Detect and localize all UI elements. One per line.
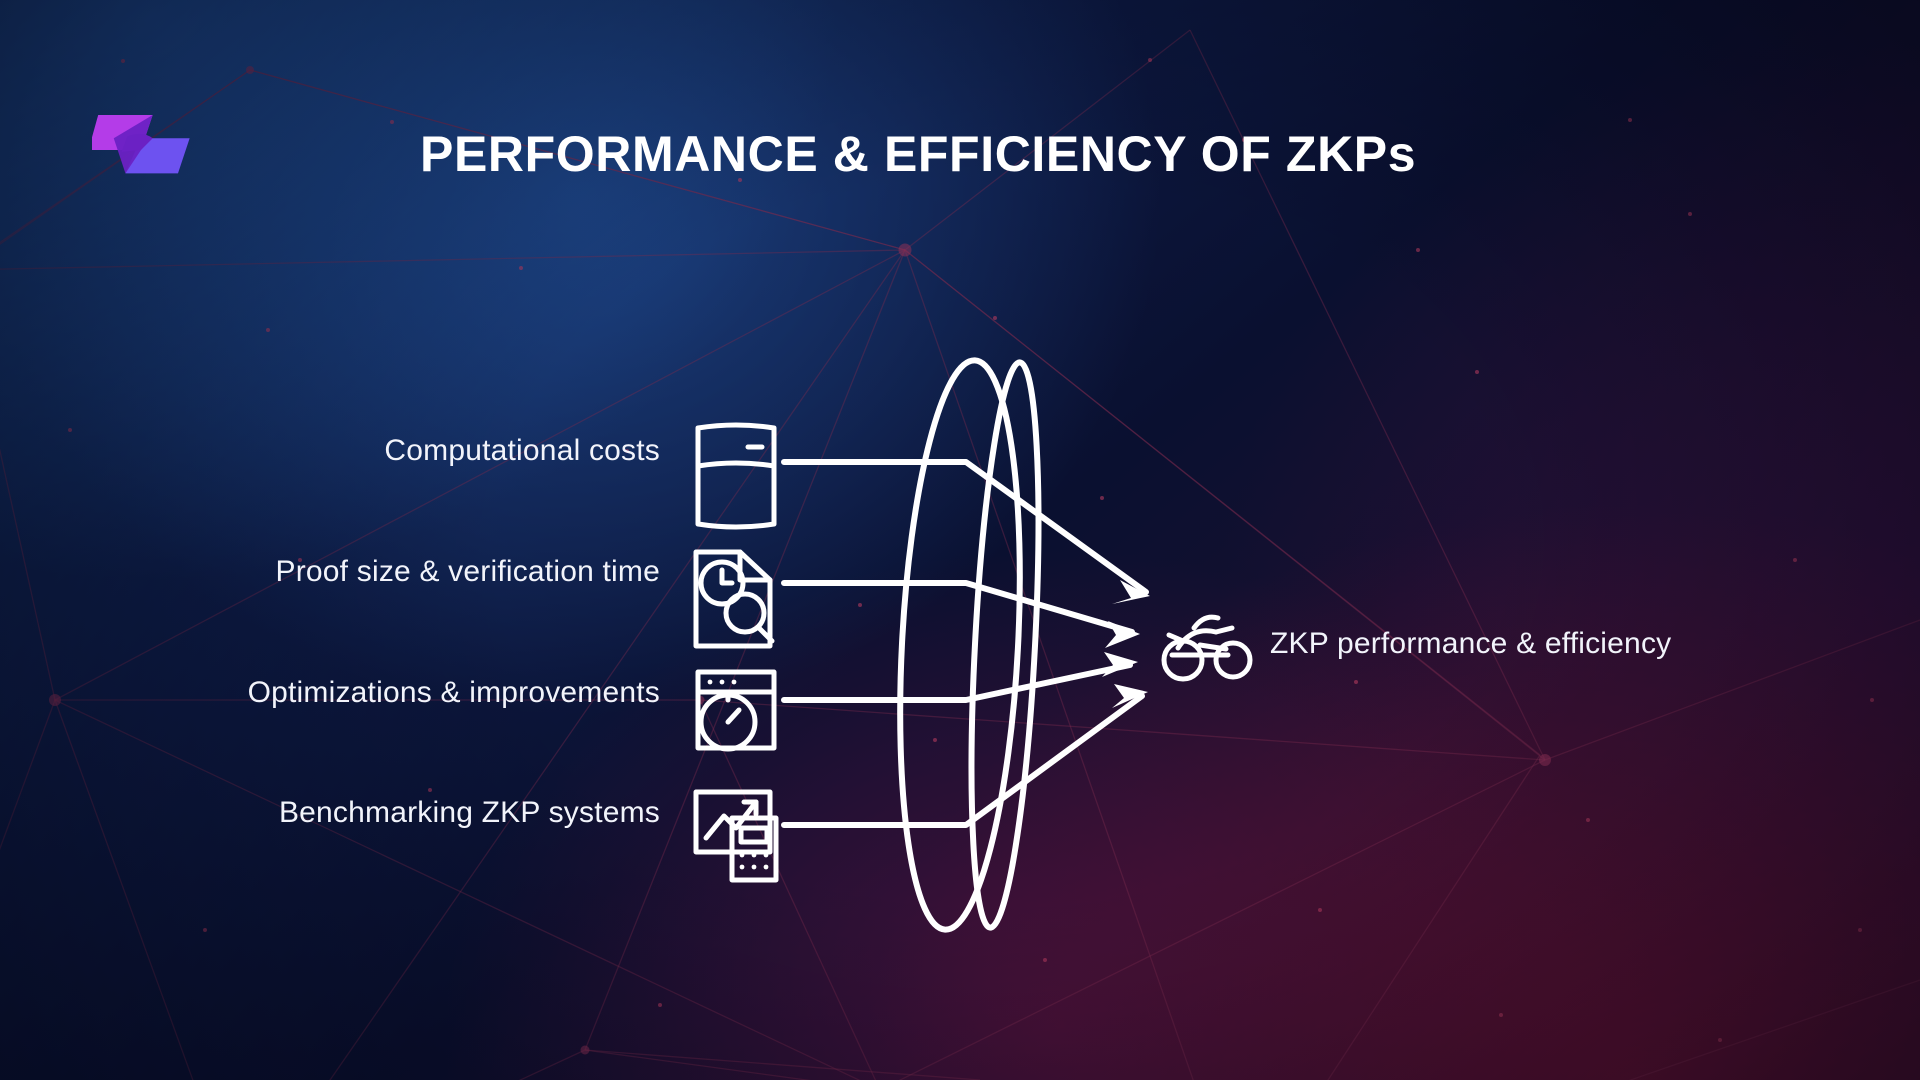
connector-line-4	[784, 696, 1142, 825]
slide-canvas: PERFORMANCE & EFFICIENCY OF ZKPs	[0, 0, 1920, 1080]
input-label-1: Computational costs	[60, 434, 660, 468]
input-label-4: Benchmarking ZKP systems	[60, 796, 660, 830]
lens-shape	[887, 357, 1050, 932]
input-label-3: Optimizations & improvements	[60, 676, 660, 710]
connector-line-2	[784, 583, 1132, 632]
browser-stopwatch-icon	[698, 672, 774, 749]
converging-lens-diagram	[0, 0, 1920, 1080]
server-rack-icon	[698, 425, 774, 527]
input-label-2: Proof size & verification time	[60, 555, 660, 589]
connector-line-3	[784, 665, 1130, 700]
motorcycle-icon	[1164, 617, 1250, 679]
arrow-heads	[1102, 580, 1150, 708]
chart-calculator-icon	[696, 792, 776, 880]
connector-line-1	[784, 462, 1146, 592]
output-label: ZKP performance & efficiency	[1270, 627, 1890, 661]
document-clock-search-icon	[696, 552, 772, 646]
